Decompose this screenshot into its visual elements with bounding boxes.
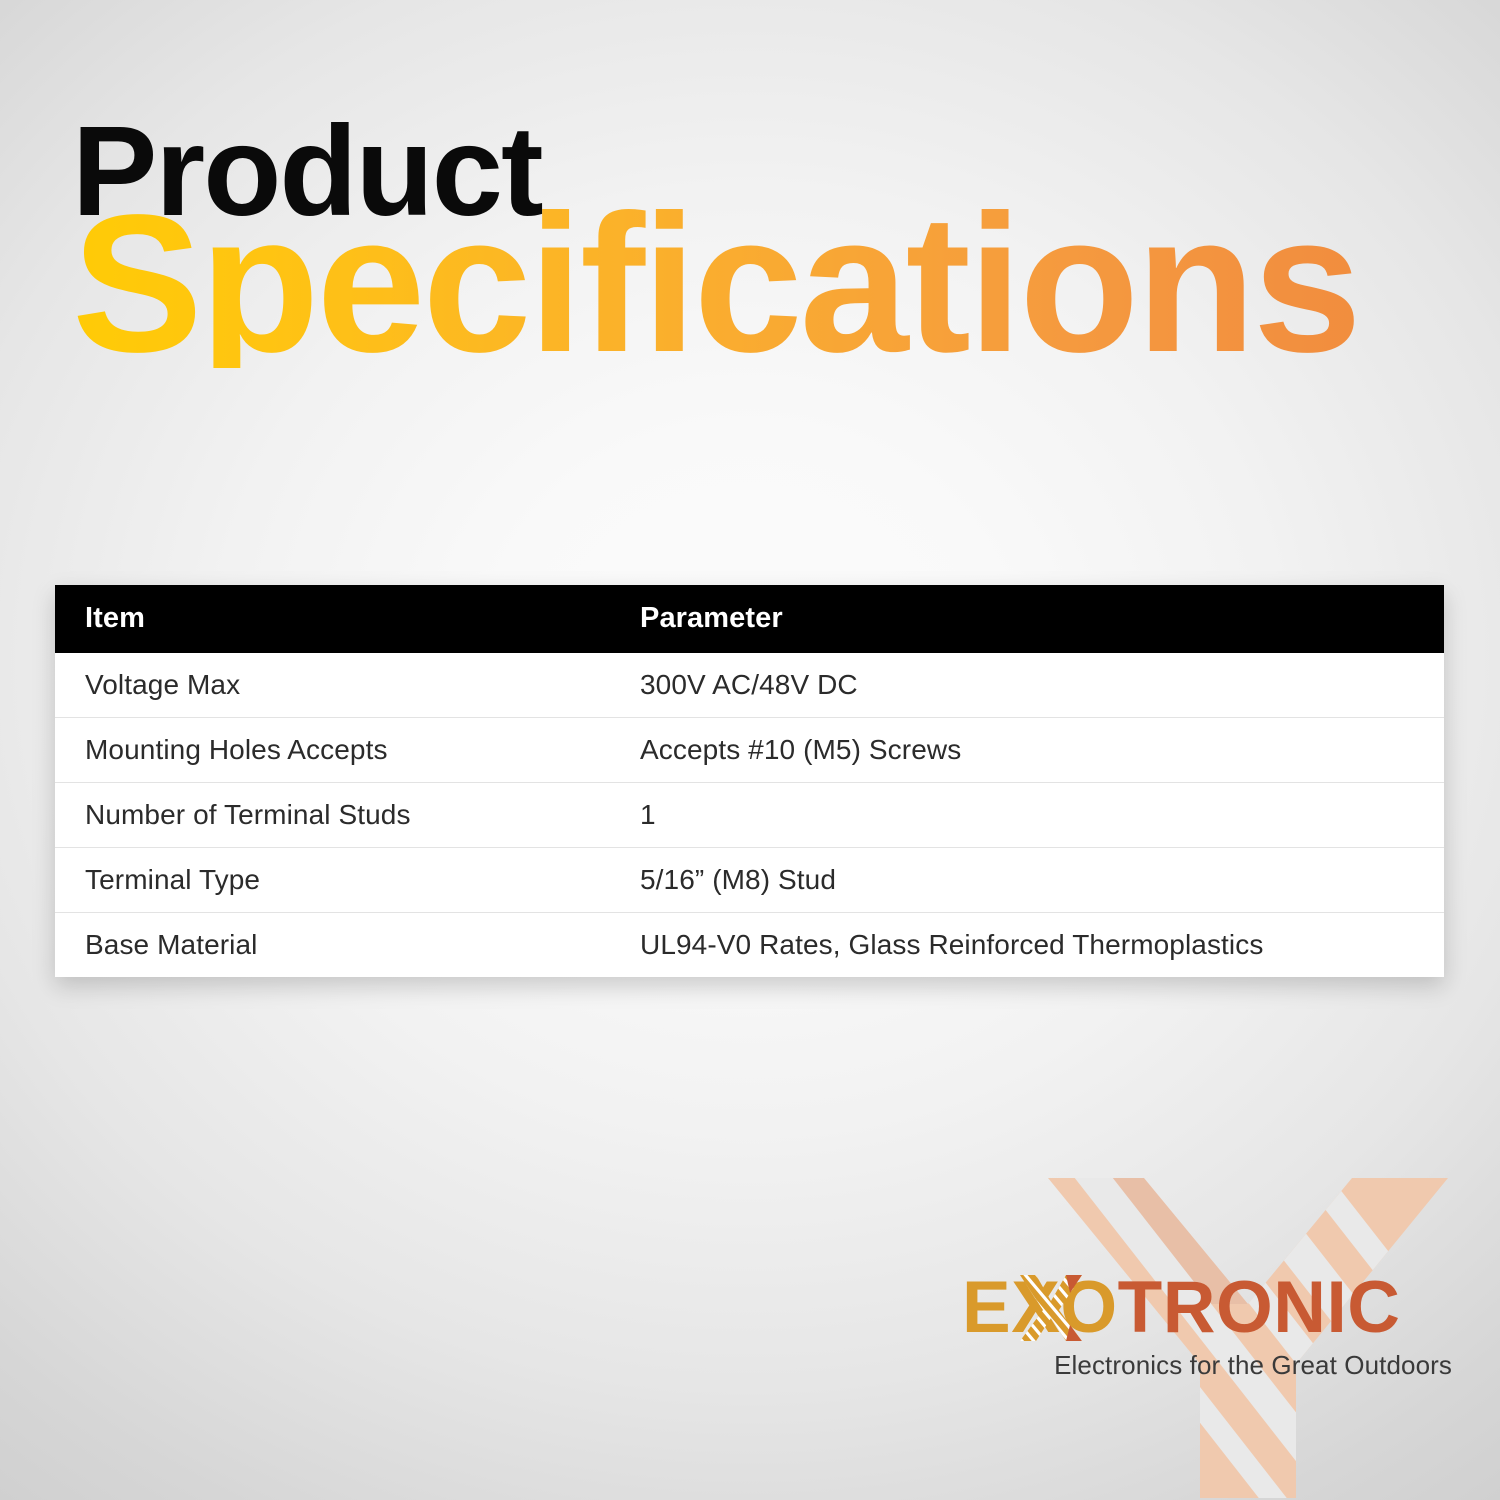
- logo-text-exo: EXO: [962, 1267, 1118, 1348]
- page-title: Product Specifications: [72, 118, 1452, 368]
- spec-table-head: Item Parameter: [55, 585, 1444, 653]
- brand-logo: EXOTRONIC: [962, 1272, 1452, 1381]
- cell-item: Terminal Type: [55, 848, 610, 913]
- table-row: Number of Terminal Studs 1: [55, 783, 1444, 848]
- cell-parameter: UL94-V0 Rates, Glass Reinforced Thermopl…: [610, 913, 1444, 978]
- column-header-item: Item: [55, 585, 610, 653]
- page-canvas: Product Specifications Item Parameter Vo…: [0, 0, 1500, 1500]
- table-row: Voltage Max 300V AC/48V DC: [55, 653, 1444, 718]
- table-header-row: Item Parameter: [55, 585, 1444, 653]
- logo-wordmark: EXOTRONIC: [962, 1272, 1452, 1344]
- logo-tagline: Electronics for the Great Outdoors: [962, 1350, 1452, 1381]
- cell-item: Mounting Holes Accepts: [55, 718, 610, 783]
- spec-table-container: Item Parameter Voltage Max 300V AC/48V D…: [55, 585, 1444, 977]
- cell-item: Voltage Max: [55, 653, 610, 718]
- column-header-parameter: Parameter: [610, 585, 1444, 653]
- cell-parameter: Accepts #10 (M5) Screws: [610, 718, 1444, 783]
- table-row: Base Material UL94-V0 Rates, Glass Reinf…: [55, 913, 1444, 978]
- logo-text-tronic: TRONIC: [1118, 1267, 1401, 1348]
- page-title-line-2: Specifications: [72, 200, 1452, 369]
- cell-item: Base Material: [55, 913, 610, 978]
- cell-parameter: 300V AC/48V DC: [610, 653, 1444, 718]
- cell-parameter: 1: [610, 783, 1444, 848]
- spec-table: Item Parameter Voltage Max 300V AC/48V D…: [55, 585, 1444, 977]
- spec-table-body: Voltage Max 300V AC/48V DC Mounting Hole…: [55, 653, 1444, 977]
- table-row: Mounting Holes Accepts Accepts #10 (M5) …: [55, 718, 1444, 783]
- cell-item: Number of Terminal Studs: [55, 783, 610, 848]
- table-row: Terminal Type 5/16” (M8) Stud: [55, 848, 1444, 913]
- cell-parameter: 5/16” (M8) Stud: [610, 848, 1444, 913]
